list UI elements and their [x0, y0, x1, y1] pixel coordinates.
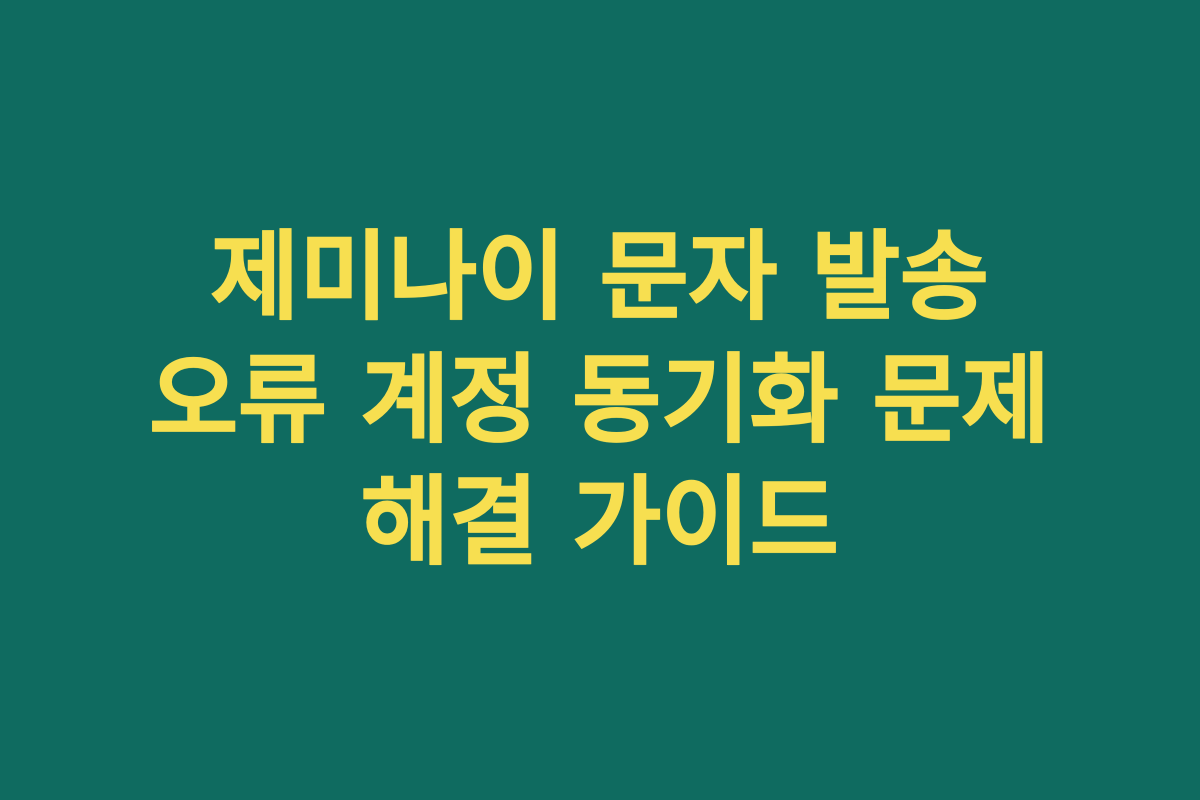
title-block: 제미나이 문자 발송 오류 계정 동기화 문제 해결 가이드	[120, 216, 1080, 585]
title-banner: 제미나이 문자 발송 오류 계정 동기화 문제 해결 가이드	[0, 0, 1200, 800]
page-title: 제미나이 문자 발송 오류 계정 동기화 문제 해결 가이드	[120, 216, 1080, 585]
